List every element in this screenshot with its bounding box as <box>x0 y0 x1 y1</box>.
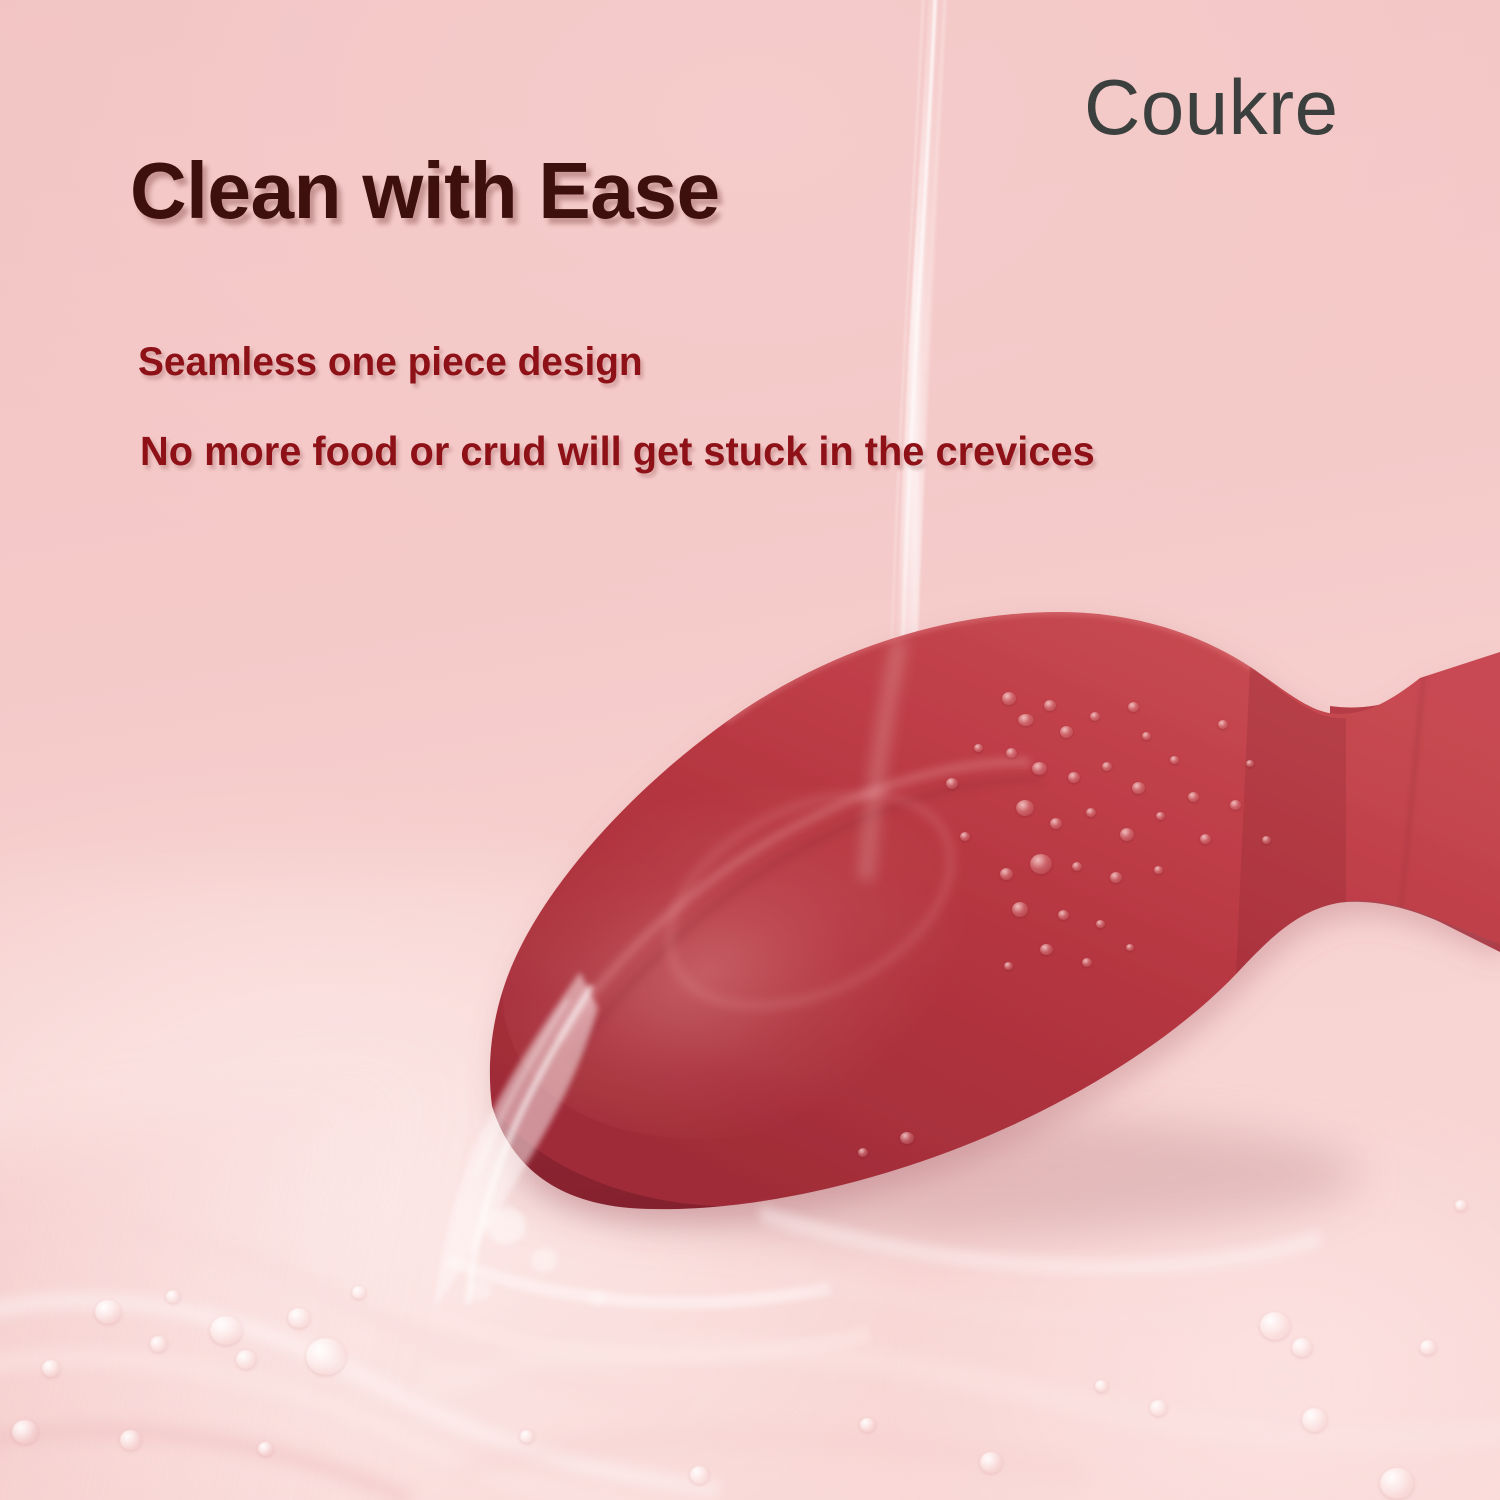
headline-text: Clean with Ease <box>130 145 720 237</box>
feature-bullet-1: Seamless one piece design <box>138 340 643 385</box>
feature-bullet-2: No more food or crud will get stuck in t… <box>140 428 1095 475</box>
brand-name: Coukre <box>1084 62 1338 153</box>
product-marketing-image: Coukre Clean with Ease Seamless one piec… <box>0 0 1500 1500</box>
background-highlight-right <box>870 1080 1500 1500</box>
